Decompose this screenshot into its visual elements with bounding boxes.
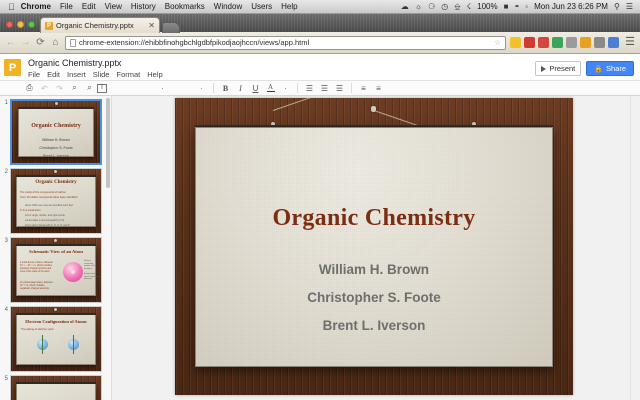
align-center-icon[interactable]: ☰ <box>317 81 332 95</box>
nail-icon <box>54 308 57 311</box>
dropbox-icon[interactable]: ☁ <box>401 3 409 11</box>
slides-app: P Organic Chemistry.pptx File Edit Inser… <box>0 54 640 400</box>
thumb-annotation: Extranuclear space containing electrons <box>84 273 100 281</box>
extension-photos-icon[interactable] <box>580 37 591 48</box>
app-menu-format[interactable]: Format <box>116 70 140 79</box>
macos-clock[interactable]: Mon Jun 23 6:26 PM <box>534 2 608 11</box>
thumb-bullet: a small dense nucleus, diameter 10⁻¹⁵ - … <box>20 262 54 274</box>
extension-red-icon[interactable] <box>524 37 535 48</box>
extension-book-icon[interactable] <box>538 37 549 48</box>
app-menu-slide[interactable]: Slide <box>93 70 110 79</box>
edit-toolbar: ⎙ ↶ ↷ ⌕ ⌕ T · · B I U A · ☰ ☰ ☰ ≡ ≡ <box>0 80 640 96</box>
toolbar-divider <box>297 83 298 93</box>
slide-number: 4 <box>2 306 10 313</box>
bluetooth-icon[interactable]: ☇ <box>467 3 472 11</box>
app-header: P Organic Chemistry.pptx File Edit Inser… <box>0 54 640 80</box>
app-menu-file[interactable]: File <box>28 70 40 79</box>
thumb-author-2: Christopher S. Foote <box>12 146 100 150</box>
macos-menubar:  Chrome File Edit View History Bookmark… <box>0 0 640 14</box>
present-label: Present <box>549 64 575 73</box>
thumb-bullet: forms single, double, and triple bonds <box>25 214 65 217</box>
reload-icon[interactable]: ⟳ <box>35 38 46 48</box>
tab-favicon-icon: P <box>45 22 53 30</box>
spin-arrow-right <box>73 335 74 354</box>
toolbar-divider <box>213 83 214 93</box>
thumb-title: Schematic View of an Atom <box>11 249 101 254</box>
filmstrip-row: 2 Organic Chemistry The study of the com… <box>0 165 111 234</box>
thumb-author-1: William H. Brown <box>12 138 100 142</box>
maximize-window-button[interactable] <box>28 21 35 28</box>
nail-icon <box>54 239 57 242</box>
color-dropdown-icon[interactable]: · <box>278 81 293 95</box>
thumb-title: Electron Configuration of Atoms <box>11 319 101 324</box>
canvas-right-gutter[interactable] <box>630 96 640 400</box>
text-color-icon[interactable]: A <box>263 81 278 95</box>
slide-number: 5 <box>2 375 10 382</box>
app-logo-icon: P <box>4 59 21 76</box>
share-label: Share <box>606 64 626 73</box>
sync-icon[interactable]: ⚆ <box>428 3 435 11</box>
browser-navigation-toolbar: ← → ⟳ ⌂ chrome-extension://ehibbfinohgbc… <box>0 32 640 54</box>
back-icon[interactable]: ← <box>5 38 16 48</box>
slide-thumbnail-3[interactable]: Schematic View of an Atom a small dense … <box>10 237 102 303</box>
play-icon <box>541 66 546 72</box>
redo-icon[interactable]: ↷ <box>52 81 67 95</box>
hang-bar <box>16 244 96 246</box>
align-left-icon[interactable]: ☰ <box>302 81 317 95</box>
thumb-bullet: The study of the compounds of carbon <box>20 191 66 194</box>
thumb-bullet: C is a small atom <box>20 209 41 212</box>
hang-bar <box>16 175 96 177</box>
zoom-out-icon[interactable]: ⌕ <box>82 81 97 95</box>
slide-thumbnail-5[interactable] <box>10 375 102 400</box>
hang-bar <box>16 313 96 315</box>
slide-canvas-pane: Organic Chemistry William H. Brown Chris… <box>112 96 640 400</box>
macos-menu-view[interactable]: View <box>105 2 122 11</box>
volume-icon[interactable]: ◦ <box>525 3 528 11</box>
extension-mail-icon[interactable] <box>608 37 619 48</box>
thumb-title: Organic Chemistry <box>11 180 101 185</box>
slide-author-2[interactable]: Christopher S. Foote <box>175 290 573 305</box>
macos-menu-chrome[interactable]: Chrome <box>21 2 51 11</box>
chrome-browser-window: P Organic Chemistry.pptx ✕ ← → ⟳ ⌂ chrom… <box>0 14 640 400</box>
clock-icon[interactable]: ◷ <box>441 3 448 11</box>
underline-icon[interactable]: U <box>248 81 263 95</box>
numbered-list-icon[interactable]: ≡ <box>356 81 371 95</box>
filmstrip-scrollbar[interactable] <box>106 98 110 188</box>
text-box-icon[interactable]: T <box>97 84 107 93</box>
macos-menu-edit[interactable]: Edit <box>82 2 96 11</box>
slide-title[interactable]: Organic Chemistry <box>175 205 573 232</box>
new-tab-button[interactable] <box>162 22 180 33</box>
hamburger-menu-icon[interactable]: ☰ <box>623 37 635 48</box>
macos-menu-bookmarks[interactable]: Bookmarks <box>165 2 205 11</box>
thumb-bullet: an extranuclear space, diameter 10⁻¹⁰ m,… <box>20 282 54 291</box>
tab-title: Organic Chemistry.pptx <box>56 21 145 30</box>
slide-number: 1 <box>2 99 10 106</box>
macos-menu-window[interactable]: Window <box>214 2 242 11</box>
app-menu-insert[interactable]: Insert <box>67 70 86 79</box>
close-window-button[interactable] <box>6 21 13 28</box>
filmstrip-row: 5 <box>0 372 111 400</box>
filmstrip-row: 4 Electron Configuration of Atoms The pa… <box>0 303 111 372</box>
thumb-title: Organic Chemistry <box>12 123 100 129</box>
hang-bar <box>16 382 96 384</box>
battery-percent-label: 100% <box>477 2 497 11</box>
slide-number: 3 <box>2 237 10 244</box>
thumb-bullet: intermediate in electronegativity (2.5) <box>25 219 64 222</box>
hang-bar <box>18 107 94 109</box>
font-family-control[interactable]: · <box>194 81 209 95</box>
current-slide[interactable]: Organic Chemistry William H. Brown Chris… <box>175 98 573 395</box>
undo-icon[interactable]: ↶ <box>37 81 52 95</box>
url-text: chrome-extension://ehibbfinohgbchlgdbfpi… <box>79 38 491 47</box>
filmstrip-row: 3 Schematic View of an Atom a small dens… <box>0 234 111 303</box>
home-icon[interactable]: ⌂ <box>50 38 61 48</box>
bold-icon[interactable]: B <box>218 81 233 95</box>
extension-icons <box>510 37 619 48</box>
address-bar[interactable]: chrome-extension://ehibbfinohgbchlgdbfpi… <box>65 36 506 50</box>
wifi-icon[interactable]: ◓ <box>514 3 519 11</box>
tab-strip: P Organic Chemistry.pptx ✕ <box>0 14 640 32</box>
slide-thumbnail-1[interactable]: Organic Chemistry William H. Brown Chris… <box>10 99 102 165</box>
align-right-icon[interactable]: ☰ <box>332 81 347 95</box>
header-actions: Present 🔒 Share <box>535 61 634 76</box>
atom-nucleus <box>71 270 75 274</box>
slide-thumbnail-2[interactable]: Organic Chemistry The study of the compo… <box>10 168 102 234</box>
thumb-bullet: forms strong bonds with C, H, O, N, and … <box>25 224 70 227</box>
thumb-bullet: about 1000 new ones are identified each … <box>25 204 73 207</box>
nail-icon <box>54 170 57 173</box>
macos-menu-users[interactable]: Users <box>251 2 272 11</box>
present-button[interactable]: Present <box>535 61 581 76</box>
nail-icon <box>55 102 58 105</box>
bell-icon[interactable]: ☼ <box>415 3 422 11</box>
slide-author-1[interactable]: William H. Brown <box>175 262 573 277</box>
battery-icon[interactable]: ■ <box>504 3 509 11</box>
minimize-window-button[interactable] <box>17 21 24 28</box>
macos-status-items: ☁ ☼ ⚆ ◷ ⎒ ☇ 100% ■ ◓ ◦ Mon Jun 23 6:26 P… <box>401 2 636 11</box>
macos-menu-history[interactable]: History <box>131 2 156 11</box>
spin-arrow-left <box>42 335 43 354</box>
toolbar-divider <box>351 83 352 93</box>
zoom-in-icon[interactable]: ⌕ <box>67 81 82 95</box>
app-menu-edit[interactable]: Edit <box>47 70 60 79</box>
macos-menu-help[interactable]: Help <box>281 2 297 11</box>
font-size-control[interactable]: · <box>155 81 170 95</box>
notification-center-icon[interactable]: ☰ <box>626 3 633 11</box>
browser-tab[interactable]: P Organic Chemistry.pptx ✕ <box>40 17 160 33</box>
window-traffic-lights <box>0 21 40 32</box>
print-icon[interactable]: ⎙ <box>22 81 37 95</box>
thumb-annotation: Nucleus containing protons and neutrons <box>84 260 100 270</box>
screenshot-icon[interactable]: ⎒ <box>454 3 460 11</box>
bookmark-star-icon[interactable]: ☆ <box>494 38 501 47</box>
filmstrip-row: 1 Organic Chemistry William H. Brown Chr… <box>0 96 111 165</box>
apple-logo-icon[interactable]:  <box>8 2 15 12</box>
page-info-icon[interactable] <box>70 39 76 47</box>
bulleted-list-icon[interactable]: ≡ <box>371 81 386 95</box>
slide-filmstrip[interactable]: 1 Organic Chemistry William H. Brown Chr… <box>0 96 112 400</box>
share-button[interactable]: 🔒 Share <box>586 61 634 76</box>
hook-nail-icon <box>371 106 376 112</box>
work-area: 1 Organic Chemistry William H. Brown Chr… <box>0 96 640 400</box>
app-menubar: File Edit Insert Slide Format Help <box>28 70 535 79</box>
extension-yellow-icon[interactable] <box>510 37 521 48</box>
extension-print-icon[interactable] <box>566 37 577 48</box>
slide-thumbnail-4[interactable]: Electron Configuration of Atoms The pair… <box>10 306 102 372</box>
forward-icon[interactable]: → <box>20 38 31 48</box>
tab-close-icon[interactable]: ✕ <box>148 21 155 30</box>
thumb-bullet: The pairing of electron spins <box>21 328 54 331</box>
search-icon[interactable]: ⚲ <box>614 3 620 11</box>
thumb-bullet: Over 10 million compounds have been iden… <box>20 196 94 199</box>
macos-menu-file[interactable]: File <box>60 2 73 11</box>
slide-number: 2 <box>2 168 10 175</box>
canvas-board <box>16 383 96 400</box>
italic-icon[interactable]: I <box>233 81 248 95</box>
app-menu-help[interactable]: Help <box>147 70 162 79</box>
extension-cast-icon[interactable] <box>594 37 605 48</box>
thumb-author-3: Brent L. Iverson <box>12 154 100 158</box>
document-info: Organic Chemistry.pptx File Edit Insert … <box>28 57 535 79</box>
lock-icon: 🔒 <box>594 65 603 73</box>
slide-author-3[interactable]: Brent L. Iverson <box>175 318 573 333</box>
document-title[interactable]: Organic Chemistry.pptx <box>28 57 535 69</box>
extension-drive-icon[interactable] <box>552 37 563 48</box>
